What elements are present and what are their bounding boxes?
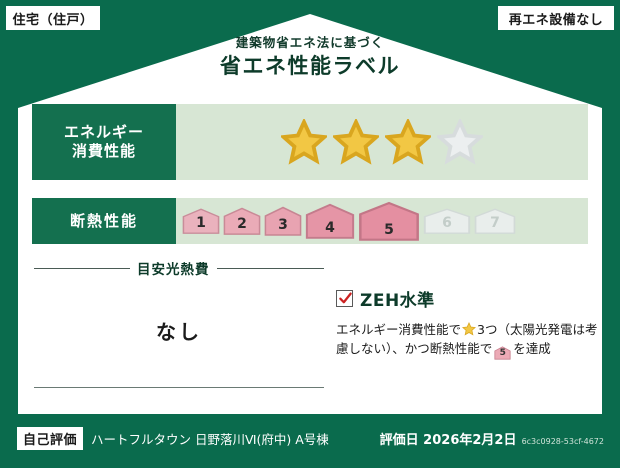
insulation-level-5: 5	[358, 201, 420, 241]
zeh-description: エネルギー消費性能で3つ（太陽光発電は考慮しない）、かつ断熱性能で5を達成	[336, 320, 598, 360]
renewable-energy-tab: 再エネ設備なし	[496, 6, 614, 32]
evaluation-meta: 評価日 2026年2月2日 6c3c0928-53cf-4672	[370, 429, 604, 448]
zeh-desc-stars: 3つ（太陽光発電	[477, 322, 572, 337]
insulation-level-6: 6	[423, 208, 471, 234]
insulation-level-4: 4	[305, 203, 355, 239]
self-evaluation-badge: 自己評価	[16, 426, 84, 451]
insulation-performance-label: 断熱性能	[32, 198, 176, 244]
zeh-desc-part3: を達成	[513, 341, 551, 356]
label-footer: 自己評価 ハートフルタウン 日野落川Ⅵ(府中) A号棟 評価日 2026年2月2…	[0, 414, 620, 468]
evaluation-date: 評価日 2026年2月2日	[380, 433, 517, 448]
check-icon	[338, 291, 353, 306]
utility-cost-section: 目安光熱費 なし	[34, 258, 324, 388]
insulation-level-value: 7	[490, 215, 500, 234]
zeh-title-row: ZEH水準	[336, 286, 598, 311]
star-rating	[176, 104, 588, 180]
building-type-tab: 住宅（住戸）	[6, 6, 102, 32]
cost-bottom-rule	[34, 387, 324, 388]
cost-header-rule-left	[34, 268, 130, 269]
energy-label-line2: 消費性能	[72, 142, 136, 161]
insulation-badge-value: 5	[494, 346, 511, 361]
insulation-level-value: 1	[196, 215, 206, 234]
utility-cost-title: 目安光熱費	[137, 258, 210, 278]
zeh-desc-part1: エネルギー消費性能で	[336, 322, 461, 337]
insulation-level-3: 3	[264, 206, 302, 236]
insulation-level-1: 1	[182, 208, 220, 234]
star-filled-icon	[333, 119, 379, 165]
label-heading: 建築物省エネ法に基づく 省エネ性能ラベル	[0, 36, 620, 78]
property-name: ハートフルタウン 日野落川Ⅵ(府中) A号棟	[91, 429, 329, 448]
utility-cost-header: 目安光熱費	[34, 258, 324, 278]
insulation-level-value: 5	[384, 222, 394, 241]
energy-consumption-label: エネルギー 消費性能	[32, 104, 176, 180]
insulation-level-scale: 1234567	[176, 198, 588, 244]
star-filled-icon	[281, 119, 327, 165]
evaluation-id: 6c3c0928-53cf-4672	[522, 437, 604, 446]
energy-label-line1: エネルギー	[64, 123, 144, 142]
insulation-level-value: 6	[442, 215, 452, 234]
zeh-standard-section: ZEH水準 エネルギー消費性能で3つ（太陽光発電は考慮しない）、かつ断熱性能で5…	[336, 286, 598, 360]
insulation-level-2: 2	[223, 207, 261, 235]
energy-performance-label: 住宅（住戸） 再エネ設備なし 建築物省エネ法に基づく 省エネ性能ラベル エネルギ…	[0, 0, 620, 468]
insulation-level-value: 4	[325, 220, 335, 239]
zeh-title: ZEH水準	[360, 286, 435, 311]
building-type-label: 住宅（住戸）	[12, 9, 93, 28]
star-filled-icon	[385, 119, 431, 165]
insulation-level-value: 3	[278, 217, 288, 236]
zeh-checkbox[interactable]	[336, 290, 353, 307]
insulation-level-value: 2	[237, 216, 247, 235]
insulation-label-text: 断熱性能	[70, 212, 138, 231]
cost-header-rule-right	[217, 268, 325, 269]
energy-consumption-row: エネルギー 消費性能	[32, 104, 588, 180]
page-title: 省エネ性能ラベル	[0, 55, 620, 78]
insulation-badge-icon: 5	[494, 346, 511, 360]
renewable-energy-label: 再エネ設備なし	[509, 9, 604, 28]
insulation-level-7: 7	[474, 208, 516, 234]
utility-cost-value: なし	[34, 316, 324, 345]
star-icon	[462, 322, 476, 336]
heading-subtitle: 建築物省エネ法に基づく	[0, 36, 620, 50]
star-empty-icon	[437, 119, 483, 165]
insulation-performance-row: 断熱性能 1234567	[32, 198, 588, 244]
